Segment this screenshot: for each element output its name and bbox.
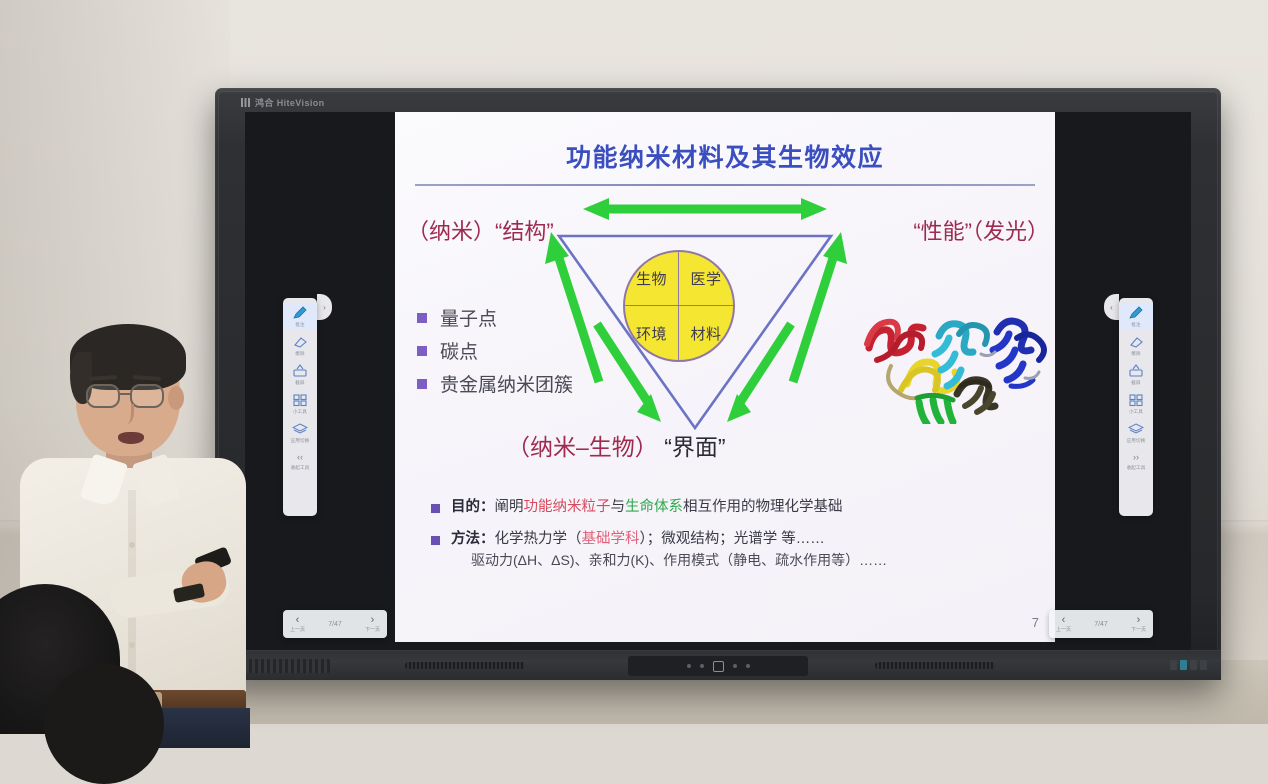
toolbar-label: 小工具 [1129, 409, 1143, 415]
concept-diagram: 生物 医学 环境 材料 （纳米）“结构” “性能”（发光） （纳米–生物） “界… [395, 196, 1055, 476]
next-page-button[interactable]: › 下一页 [1131, 615, 1146, 633]
speaker-grille-icon [875, 662, 995, 669]
device-brand-logo: 鸿合 HiteVision [241, 96, 325, 109]
purpose-p3: 生命体系 [625, 499, 683, 515]
brand-text: 鸿合 HiteVision [255, 96, 325, 109]
shirt-button [129, 542, 135, 548]
chevron-left-icon: ‹ [1110, 303, 1113, 312]
next-page-label: 下一页 [1131, 628, 1146, 633]
slide-lower-points: 目的：阐明功能纳米粒子与生命体系相互作用的物理化学基础 方法：化学热力学（基础学… [431, 498, 1037, 582]
purpose-p0: 阐明 [495, 499, 524, 515]
page-nav-right[interactable]: ‹ 上一页 7/47 › 下一页 [1049, 610, 1153, 638]
glasses-bridge-icon [120, 393, 132, 395]
display-bottom-bezel [215, 650, 1221, 680]
interface-label-main: “界面” [664, 434, 725, 460]
four-quadrant-circle: 生物 医学 环境 材料 [623, 250, 735, 362]
presentation-slide[interactable]: 功能纳米材料及其生物效应 [395, 112, 1055, 642]
bullet-square-icon [417, 346, 427, 356]
bullet-square-icon [431, 536, 440, 545]
bezel-side-ports [1170, 660, 1207, 670]
slide-page-number: 7 [1032, 615, 1039, 630]
method-sub-line: 驱动力(ΔH、ΔS)、亲和力(K)、作用模式（静电、疏水作用等）…… [471, 551, 887, 570]
chevron-right-icon: › [323, 303, 326, 312]
prev-page-label: 上一页 [290, 628, 305, 633]
toolbar-label: 截屏 [295, 380, 304, 386]
capture-icon [1127, 363, 1145, 379]
toolbar-item-layers[interactable]: 应用切换 [283, 419, 317, 446]
chevron-collapse-icon[interactable]: ›› [1133, 452, 1139, 462]
port-icon-usb [1180, 660, 1187, 670]
toolbar-label: 小工具 [293, 409, 307, 415]
chevron-right-icon: › [371, 615, 375, 626]
layers-icon [291, 421, 309, 437]
port-icon [1170, 660, 1177, 670]
presenter-ear [168, 386, 184, 410]
chevron-collapse-icon[interactable]: ‹‹ [297, 452, 303, 462]
bullet-square-icon [431, 504, 440, 513]
list-item: 目的：阐明功能纳米粒子与生命体系相互作用的物理化学基础 [431, 498, 1037, 518]
protein-ribbon-structure-icon [861, 294, 1051, 424]
chevron-left-icon: ‹ [296, 615, 300, 626]
nanomaterial-bullet-list: 量子点 碳点 贵金属纳米团簇 [417, 304, 573, 403]
control-dot-icon [700, 664, 704, 668]
shirt-button [129, 642, 135, 648]
method-line: 方法：化学热力学（基础学科）；微观结构；光谱学 等…… 驱动力(ΔH、ΔS)、亲… [451, 530, 887, 570]
port-icon [1200, 660, 1207, 670]
diagram-label-performance: “性能”（发光） [913, 214, 1049, 246]
toolbar-item-pen[interactable]: 批注 [283, 303, 317, 330]
toolbar-expand-tab-right[interactable]: ‹ [1104, 294, 1119, 320]
purpose-label: 目的： [451, 499, 495, 515]
list-item: 碳点 [417, 337, 573, 364]
glasses-lens-right-icon [130, 384, 164, 408]
page-counter: 7/47 [1094, 621, 1108, 628]
bullet-square-icon [417, 313, 427, 323]
annotation-toolbar-left[interactable]: 批注 擦除 截屏 小工具 [283, 298, 317, 516]
bullet-label: 贵金属纳米团簇 [440, 370, 573, 397]
method-p2: ）；微观结构；光谱学 等…… [640, 531, 825, 547]
title-divider [415, 184, 1035, 186]
interface-label-prefix: （纳米–生物） [507, 434, 658, 460]
bullet-label: 量子点 [440, 304, 497, 331]
layers-icon [1127, 421, 1145, 437]
method-p1: 基础学科 [582, 531, 640, 547]
toolbar-collapse-label: 收起工具 [291, 465, 310, 471]
list-item: 贵金属纳米团簇 [417, 370, 573, 397]
toolbar-expand-tab-left[interactable]: › [317, 294, 332, 320]
presenter-mouth [118, 432, 144, 444]
apps-icon [1127, 392, 1145, 408]
speaker-grille-icon [405, 662, 525, 669]
toolbar-item-layers[interactable]: 应用切换 [1119, 419, 1153, 446]
toolbar-collapse-label: 收起工具 [1127, 465, 1146, 471]
purpose-p4: 相互作用的物理化学基础 [683, 499, 843, 515]
annotation-toolbar-right[interactable]: 批注 擦除 截屏 小工具 [1119, 298, 1153, 516]
toolbar-item-eraser[interactable]: 擦除 [283, 332, 317, 359]
toolbar-item-apps[interactable]: 小工具 [283, 390, 317, 417]
toolbar-label: 擦除 [295, 351, 304, 357]
toolbar-label: 批注 [1131, 322, 1140, 328]
toolbar-label: 应用切换 [291, 438, 310, 444]
purpose-p2: 与 [611, 499, 626, 515]
toolbar-item-eraser[interactable]: 擦除 [1119, 332, 1153, 359]
glasses-lens-left-icon [86, 384, 120, 408]
next-page-label: 下一页 [365, 628, 380, 633]
page-nav-left[interactable]: ‹ 上一页 7/47 › 下一页 [283, 610, 387, 638]
toolbar-item-pen[interactable]: 批注 [1119, 303, 1153, 330]
prev-page-label: 上一页 [1056, 628, 1071, 633]
control-dot-icon [687, 664, 691, 668]
next-page-button[interactable]: › 下一页 [365, 615, 380, 633]
prev-page-button[interactable]: ‹ 上一页 [290, 615, 305, 633]
toolbar-item-capture[interactable]: 截屏 [283, 361, 317, 388]
eraser-icon [1127, 334, 1145, 350]
eraser-icon [291, 334, 309, 350]
toolbar-item-apps[interactable]: 小工具 [1119, 390, 1153, 417]
capture-icon [291, 363, 309, 379]
double-headed-arrow-icon [581, 196, 829, 222]
port-icon [1190, 660, 1197, 670]
pen-icon [1127, 305, 1145, 321]
diagram-label-interface: （纳米–生物） “界面” [507, 428, 726, 462]
pen-icon [291, 305, 309, 321]
toolbar-label: 截屏 [1131, 380, 1140, 386]
toolbar-label: 擦除 [1131, 351, 1140, 357]
page-counter: 7/47 [328, 621, 342, 628]
chevron-right-icon: › [1137, 615, 1141, 626]
purpose-p1: 功能纳米粒子 [524, 499, 611, 515]
down-left-arrow-icon [717, 320, 797, 426]
toolbar-label: 批注 [295, 322, 304, 328]
bullet-square-icon [417, 379, 427, 389]
bezel-control-panel[interactable] [628, 656, 808, 676]
toolbar-label: 应用切换 [1127, 438, 1146, 444]
apps-icon [291, 392, 309, 408]
toolbar-item-capture[interactable]: 截屏 [1119, 361, 1153, 388]
method-label: 方法： [451, 531, 495, 547]
slide-title: 功能纳米材料及其生物效应 [395, 138, 1055, 174]
list-item: 方法：化学热力学（基础学科）；微观结构；光谱学 等…… 驱动力(ΔH、ΔS)、亲… [431, 530, 1037, 570]
control-dot-icon [733, 664, 737, 668]
bullet-label: 碳点 [440, 337, 478, 364]
prev-page-button[interactable]: ‹ 上一页 [1056, 615, 1071, 633]
audience-head [44, 664, 164, 784]
home-button-icon[interactable] [713, 661, 724, 672]
list-item: 量子点 [417, 304, 573, 331]
control-dot-icon [746, 664, 750, 668]
diagram-label-structure: （纳米）“结构” [407, 214, 554, 246]
hitevision-logo-icon [241, 98, 250, 107]
purpose-line: 目的：阐明功能纳米粒子与生命体系相互作用的物理化学基础 [451, 498, 843, 518]
method-p0: 化学热力学（ [495, 531, 582, 547]
chevron-left-icon: ‹ [1062, 615, 1066, 626]
display-screen[interactable]: 功能纳米材料及其生物效应 [245, 112, 1191, 650]
interactive-flat-panel-display: 鸿合 HiteVision 功能纳米材料及其生物效应 [215, 88, 1221, 680]
